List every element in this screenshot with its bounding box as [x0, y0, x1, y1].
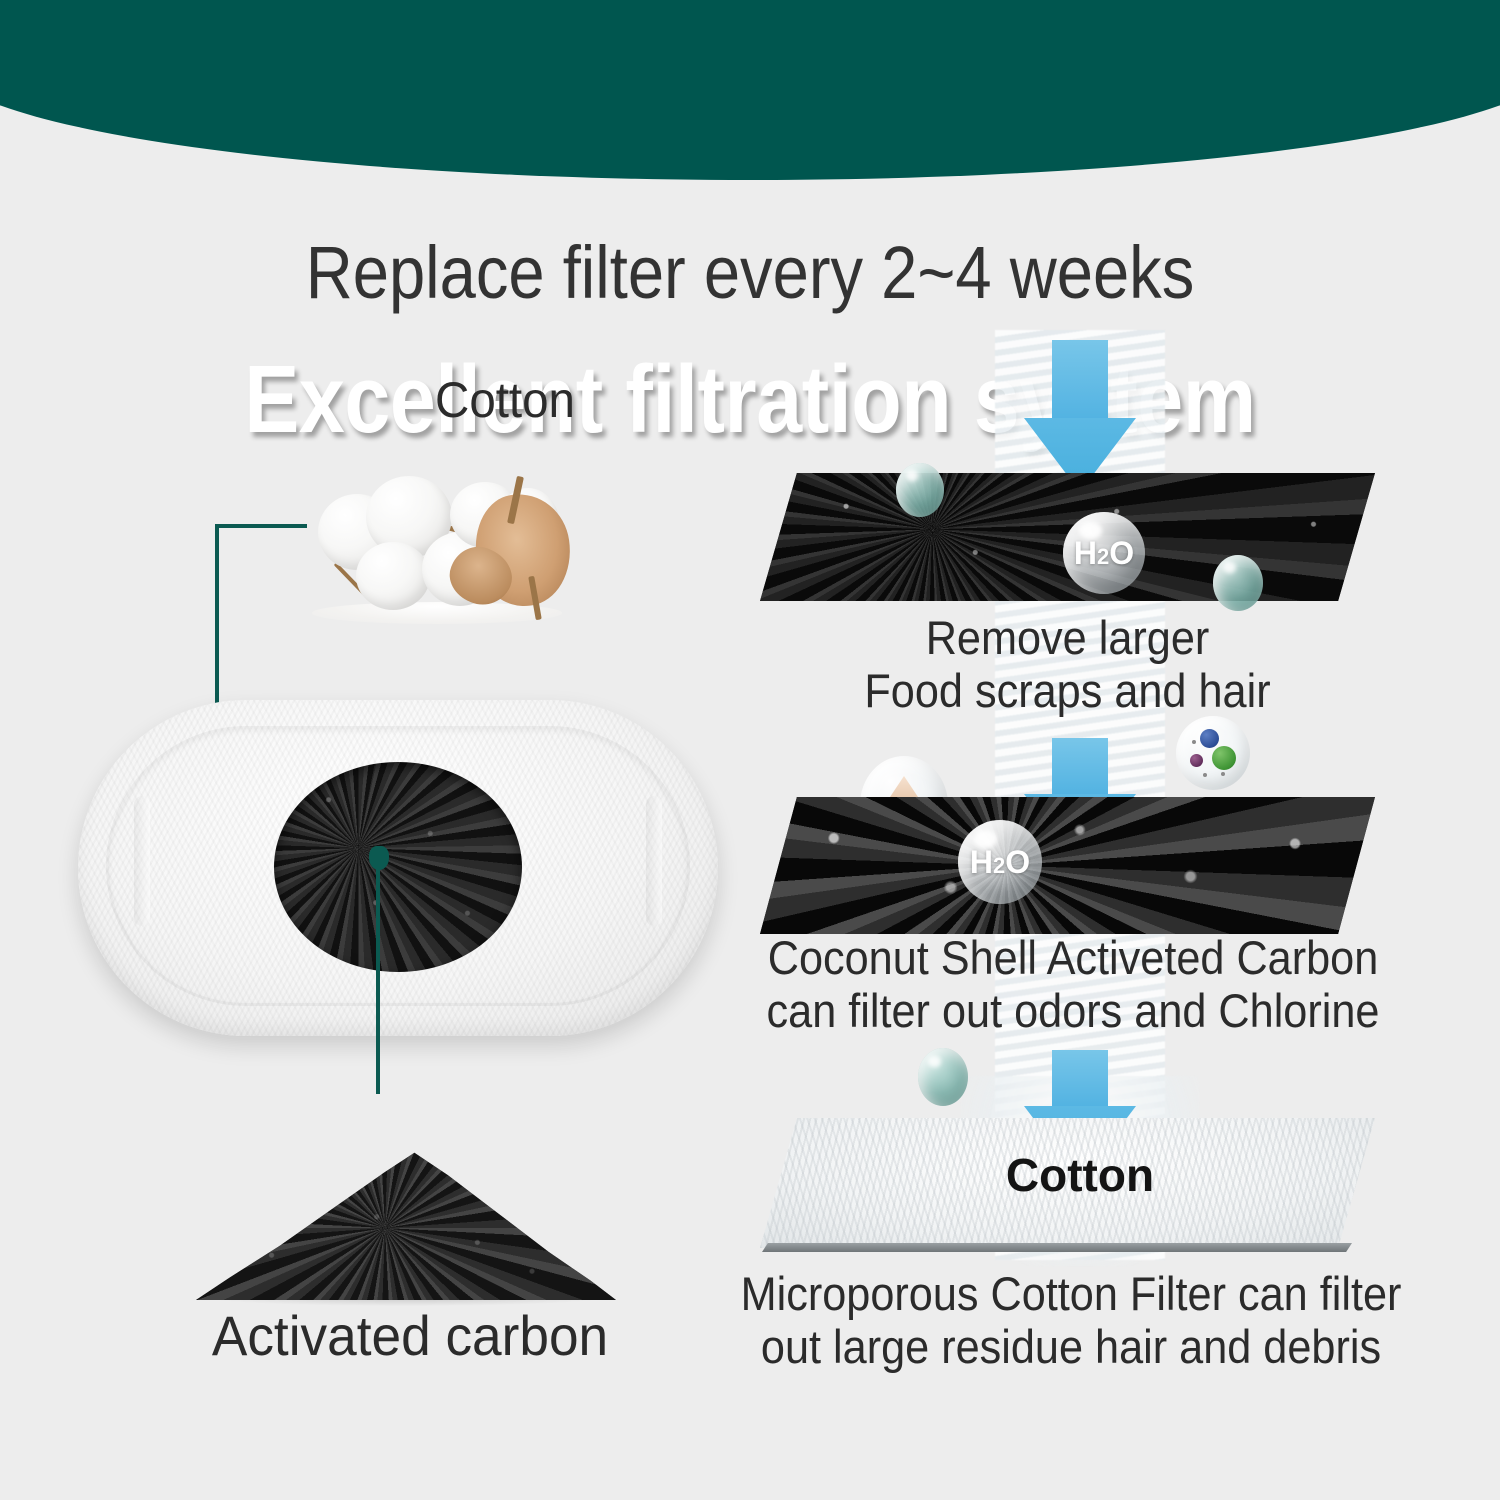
page-title: Excellent filtration system [105, 352, 1395, 448]
h2o-bubble-icon: H2O [958, 820, 1042, 904]
filter-pad-groove-right [646, 796, 662, 926]
layer-1-caption-line-1: Remove larger [785, 612, 1351, 665]
arrow-shaft [1052, 1050, 1108, 1106]
layer-1-caption: Remove larger Food scraps and hair [785, 612, 1351, 717]
coconut-shell-carbon-layer [760, 797, 1375, 934]
header-band [0, 0, 1500, 180]
leader-line-carbon-vertical [376, 862, 380, 1094]
h2o-label: H2O [970, 844, 1030, 881]
filter-pad-groove-left [134, 796, 150, 926]
filter-pad-carbon-core [274, 762, 522, 972]
microbe-speck [1192, 740, 1196, 744]
layer-3-caption-line-2: out large residue hair and debris [735, 1321, 1407, 1374]
virus-particle-purple-icon [1190, 754, 1203, 767]
layer-2-caption-line-2: can filter out odors and Chlorine [756, 985, 1391, 1038]
cotton-label: Cotton [363, 375, 648, 425]
layer-3-caption-line-1: Microporous Cotton Filter can filter [735, 1268, 1407, 1321]
infographic-page: Excellent filtration system Replace filt… [0, 0, 1500, 1500]
arrow-shaft [1052, 738, 1108, 794]
subtitle-replace-interval: Replace filter every 2~4 weeks [90, 236, 1410, 310]
microbe-speck [1203, 773, 1207, 777]
cotton-layer-badge: Cotton [950, 1152, 1210, 1198]
cotton-bolls-photo [300, 458, 590, 628]
oval-filter-pad [78, 700, 718, 1036]
arrow-shaft [1052, 340, 1108, 418]
h2o-label: H2O [1074, 535, 1134, 572]
layer-2-caption: Coconut Shell Activeted Carbon can filte… [756, 932, 1391, 1037]
contaminant-bubble-teal [896, 463, 944, 517]
layer-1-caption-line-2: Food scraps and hair [785, 665, 1351, 718]
cotton-layer-base-edge [762, 1243, 1352, 1252]
activated-carbon-granule-pile [196, 1140, 616, 1300]
leader-line-cotton-horizontal [215, 524, 307, 528]
cotton-boll [356, 542, 430, 610]
virus-particle-green-icon [1212, 746, 1236, 770]
layer-3-caption: Microporous Cotton Filter can filter out… [735, 1268, 1407, 1373]
virus-particle-blue-icon [1200, 729, 1219, 748]
activated-carbon-label: Activated carbon [163, 1308, 657, 1364]
microbe-bubble-icon [1176, 716, 1250, 790]
contaminant-bubble-teal [1213, 555, 1263, 611]
contaminant-bubble-teal [918, 1048, 968, 1106]
layer-2-caption-line-1: Coconut Shell Activeted Carbon [756, 932, 1391, 985]
h2o-bubble-icon: H2O [1063, 512, 1145, 594]
microbe-speck [1221, 772, 1225, 776]
carbon-pile-body [196, 1140, 616, 1300]
